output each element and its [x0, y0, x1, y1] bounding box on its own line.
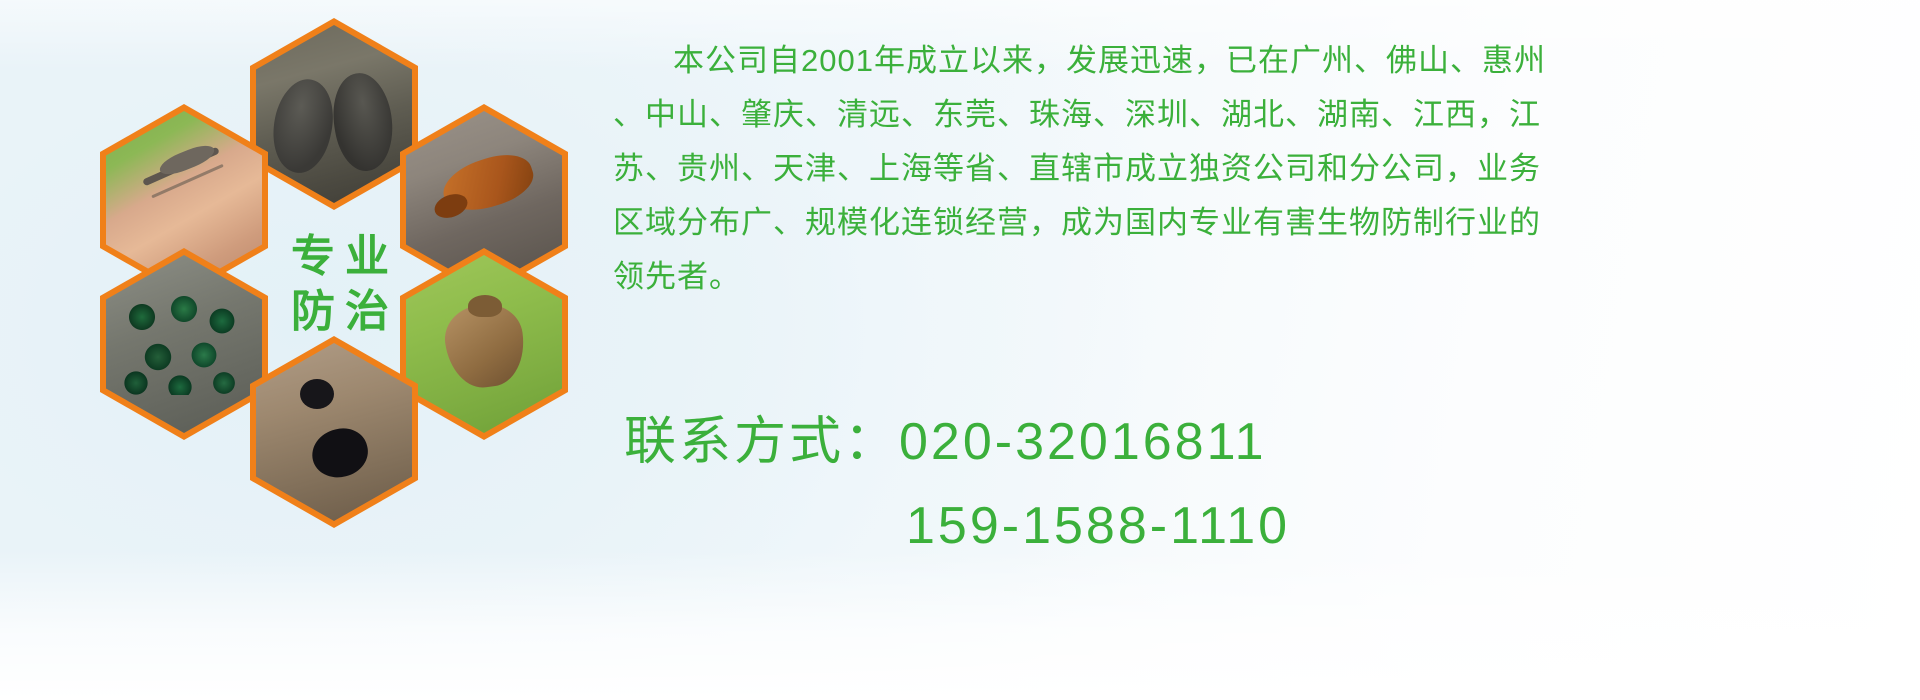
about-line-3: 苏、贵州、天津、上海等省、直辖市成立独资公司和分公司，业务 — [613, 142, 1903, 196]
hexagon-rats[interactable] — [250, 18, 418, 210]
hexagon-rats-photo — [256, 25, 412, 203]
contact-block: 联系方式：020-32016811 159-1588-1110 — [624, 400, 1914, 568]
promo-banner: 专业 防治 本公司自2001年成立以来，发展迅速，已在广州、佛山、惠州 、中山、… — [0, 0, 1920, 700]
slogan-line-1: 专业 — [281, 229, 399, 284]
hexagon-image-cluster: 专业 防治 — [100, 8, 580, 568]
contact-mobile[interactable]: 159-1588-1110 — [624, 484, 1914, 568]
rats-icon — [256, 25, 412, 203]
hexagon-flies[interactable] — [100, 248, 268, 440]
flies-icon — [106, 255, 262, 433]
about-paragraph: 本公司自2001年成立以来，发展迅速，已在广州、佛山、惠州 、中山、肇庆、清远、… — [613, 34, 1903, 304]
slogan-line-2: 防治 — [281, 284, 399, 339]
about-line-2: 、中山、肇庆、清远、东莞、珠海、深圳、湖北、湖南、江西，江 — [613, 88, 1903, 142]
about-line-4: 区域分布广、规模化连锁经营，成为国内专业有害生物防制行业的 — [613, 196, 1903, 250]
about-line-1: 本公司自2001年成立以来，发展迅速，已在广州、佛山、惠州 — [613, 34, 1903, 88]
about-line-5: 领先者。 — [613, 250, 1903, 304]
bottom-gradient-overlay — [0, 550, 1920, 700]
hexagon-flies-photo — [106, 255, 262, 433]
contact-landline[interactable]: 联系方式：020-32016811 — [624, 400, 1914, 484]
